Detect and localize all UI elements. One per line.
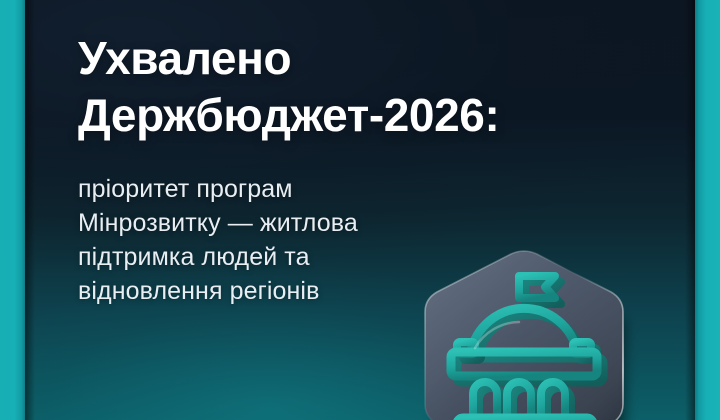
copy-block: Ухвалено Держбюджет-2026: пріоритет прог… xyxy=(78,30,678,308)
poster-canvas: Ухвалено Держбюджет-2026: пріоритет прог… xyxy=(0,0,720,420)
headline-text: Ухвалено Держбюджет-2026: xyxy=(78,30,678,144)
right-accent-rail xyxy=(695,0,720,420)
left-accent-rail xyxy=(0,0,25,420)
subtitle-text: пріоритет програм Мінрозвитку — житлова … xyxy=(78,144,678,308)
